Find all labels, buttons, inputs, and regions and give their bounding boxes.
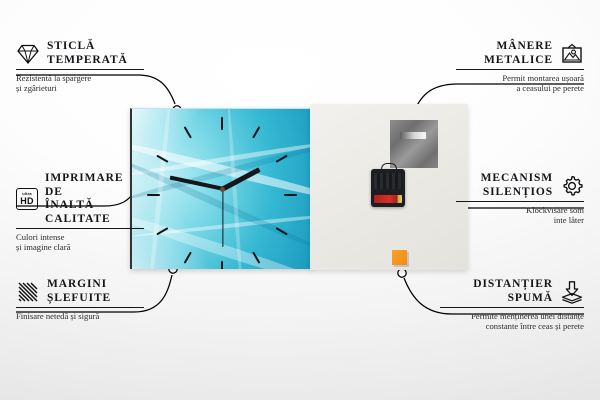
feature-divider: [456, 69, 584, 70]
clock-tick: [221, 261, 223, 269]
feature-subtitle: Permite menținerea unei distanțe constan…: [440, 311, 584, 332]
mechanism-body: [374, 173, 402, 189]
feature-subtitle: Culori intense și imagine clară: [16, 232, 144, 253]
gear-icon: [560, 174, 584, 198]
mechanism-hanging-loop: [381, 163, 397, 173]
clock-second-hand: [222, 189, 223, 247]
feature-divider: [16, 307, 144, 308]
feature-sticla-temperata: STICLĂ TEMPERATĂ Rezistentă la spargere …: [16, 40, 144, 93]
diagonal-lines-icon: [16, 280, 40, 304]
feature-imprimare-calitate: ultra HD IMPRIMARE DE ÎNALTĂ CALITATE Cu…: [16, 172, 144, 252]
feature-subtitle: Rezistentă la spargere și zgârieturi: [16, 73, 144, 94]
clock-center-cap: [220, 187, 225, 192]
picture-frame-hanger-icon: [560, 42, 584, 66]
feature-divider: [440, 307, 584, 308]
feature-title: MECANISM SILENȚIOS: [481, 172, 553, 199]
feature-manere-metalice: MÂNERE METALICE Permit montarea ușoară a…: [456, 40, 584, 93]
arrow-down-foam-icon: [560, 280, 584, 304]
clock-tick: [252, 126, 260, 138]
feature-subtitle: Klockvisare som inte låter: [456, 205, 584, 226]
feature-subtitle: Permit montarea ușoară a ceasului pe per…: [456, 73, 584, 94]
diamond-icon: [16, 42, 40, 66]
foam-spacer: [392, 250, 407, 265]
feature-mecanism-silentios: MECANISM SILENȚIOS Klockvisare som inte …: [456, 172, 584, 225]
clock-tick: [147, 194, 160, 196]
mechanism-battery: [374, 195, 402, 203]
ultra-hd-icon: ultra HD: [16, 188, 38, 210]
clock-tick: [221, 117, 223, 130]
clock-tick: [284, 194, 297, 196]
product-clock-front: [130, 108, 312, 269]
feature-title: MARGINI ȘLEFUITE: [47, 278, 111, 305]
clock-tick: [184, 252, 192, 264]
feature-margini-slefuite: MARGINI ȘLEFUITE Finisare netedă și sigu…: [16, 278, 144, 321]
feature-divider: [456, 201, 584, 202]
feature-title: MÂNERE METALICE: [484, 40, 553, 67]
feature-title: DISTANȚIER SPUMĂ: [473, 278, 553, 305]
feature-subtitle: Finisare netedă și sigură: [16, 311, 144, 321]
feature-divider: [16, 228, 144, 229]
feature-title: STICLĂ TEMPERATĂ: [47, 40, 128, 67]
infographic-canvas: STICLĂ TEMPERATĂ Rezistentă la spargere …: [0, 0, 600, 400]
feature-distantier-spuma: DISTANȚIER SPUMĂ Permite menținerea unei…: [440, 278, 584, 331]
clock-mechanism: [371, 169, 405, 207]
connector-endpoint-distantier-spuma: [398, 269, 406, 277]
hanger-plate-slot: [400, 132, 426, 139]
clock-tick: [184, 126, 192, 138]
hanger-plate: [390, 120, 438, 168]
feature-title: IMPRIMARE DE ÎNALTĂ CALITATE: [45, 172, 144, 226]
ultra-hd-icon-large-text: HD: [20, 197, 34, 206]
feature-divider: [16, 69, 144, 70]
